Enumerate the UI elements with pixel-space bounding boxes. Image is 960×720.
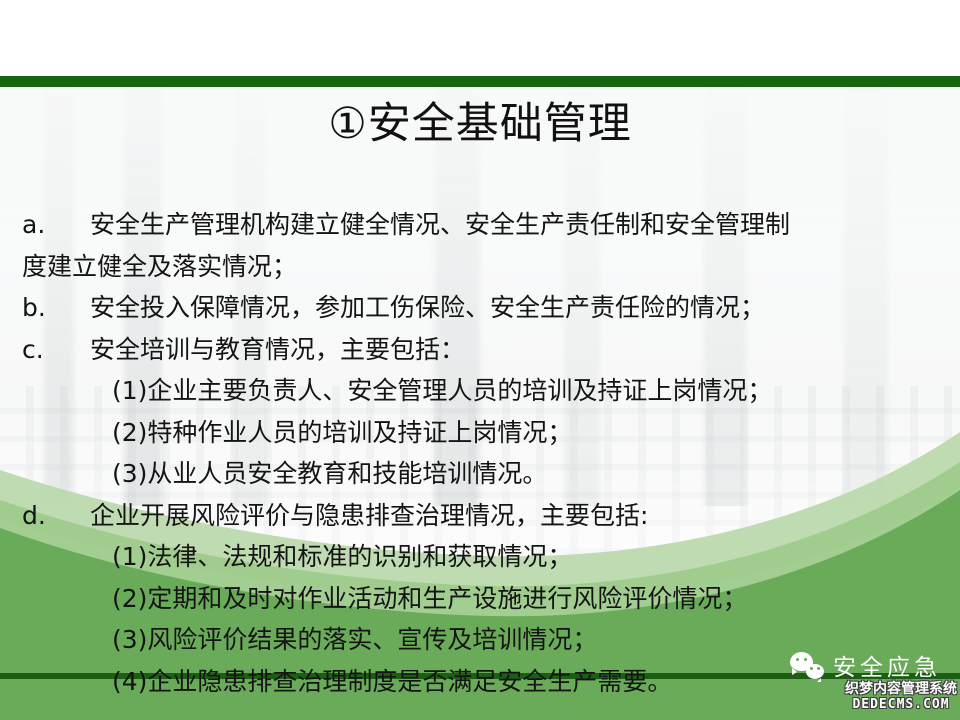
body-line-label: d.: [22, 495, 90, 537]
dedecms-watermark: 织梦内容管理系统 DEDECMS.COM: [845, 682, 957, 712]
body-line-text: 安全生产管理机构建立健全情况、安全生产责任制和安全管理制: [90, 210, 790, 239]
body-line-text: (1)法律、法规和标准的识别和获取情况；: [112, 542, 572, 571]
body-line: a.安全生产管理机构建立健全情况、安全生产责任制和安全管理制: [0, 204, 960, 246]
body-line-text: 安全培训与教育情况，主要包括：: [90, 335, 465, 364]
body-line: (1)企业主要负责人、安全管理人员的培训及持证上岗情况；: [0, 370, 960, 412]
presentation-slide: ①安全基础管理 a.安全生产管理机构建立健全情况、安全生产责任制和安全管理制 度…: [0, 0, 960, 720]
slide-body: a.安全生产管理机构建立健全情况、安全生产责任制和安全管理制 度建立健全及落实情…: [0, 204, 960, 702]
body-line-text: 企业开展风险评价与隐患排查治理情况，主要包括:: [90, 501, 648, 530]
watermark-domain-text: DEDECMS.COM: [845, 698, 957, 713]
body-line-text: (3)风险评价结果的落实、宣传及培训情况；: [112, 625, 597, 654]
body-line: (1)法律、法规和标准的识别和获取情况；: [0, 536, 960, 578]
top-green-rule: [0, 76, 960, 87]
body-line-text: (2)特种作业人员的培训及持证上岗情况；: [112, 418, 572, 447]
body-line: (2)特种作业人员的培训及持证上岗情况；: [0, 412, 960, 454]
body-line: (3)从业人员安全教育和技能培训情况。: [0, 453, 960, 495]
brand-badge: 安全应急: [790, 648, 941, 682]
body-line: c.安全培训与教育情况，主要包括：: [0, 329, 960, 371]
body-line: d.企业开展风险评价与隐患排查治理情况，主要包括:: [0, 495, 960, 537]
body-line-label: c.: [22, 329, 90, 371]
body-line: 度建立健全及落实情况；: [0, 246, 960, 288]
body-line-label: b.: [22, 287, 90, 329]
body-line-text: 安全投入保障情况，参加工伤保险、安全生产责任险的情况；: [90, 293, 765, 322]
body-line-text: (4)企业隐患排查治理制度是否满足安全生产需要。: [112, 667, 672, 696]
body-line-text: (2)定期和及时对作业活动和生产设施进行风险评价情况；: [112, 584, 747, 613]
body-line-text: (3)从业人员安全教育和技能培训情况。: [112, 459, 547, 488]
brand-name: 安全应急: [833, 648, 941, 682]
watermark-chinese-text: 织梦内容管理系统: [845, 682, 957, 698]
body-line: (2)定期和及时对作业活动和生产设施进行风险评价情况；: [0, 578, 960, 620]
slide-title: ①安全基础管理: [0, 97, 960, 151]
body-line-text: (1)企业主要负责人、安全管理人员的培训及持证上岗情况；: [112, 376, 772, 405]
body-line-text: 度建立健全及落实情况；: [22, 252, 297, 281]
body-line-label: a.: [22, 204, 90, 246]
wechat-icon: [790, 651, 824, 679]
body-line: b.安全投入保障情况，参加工伤保险、安全生产责任险的情况；: [0, 287, 960, 329]
